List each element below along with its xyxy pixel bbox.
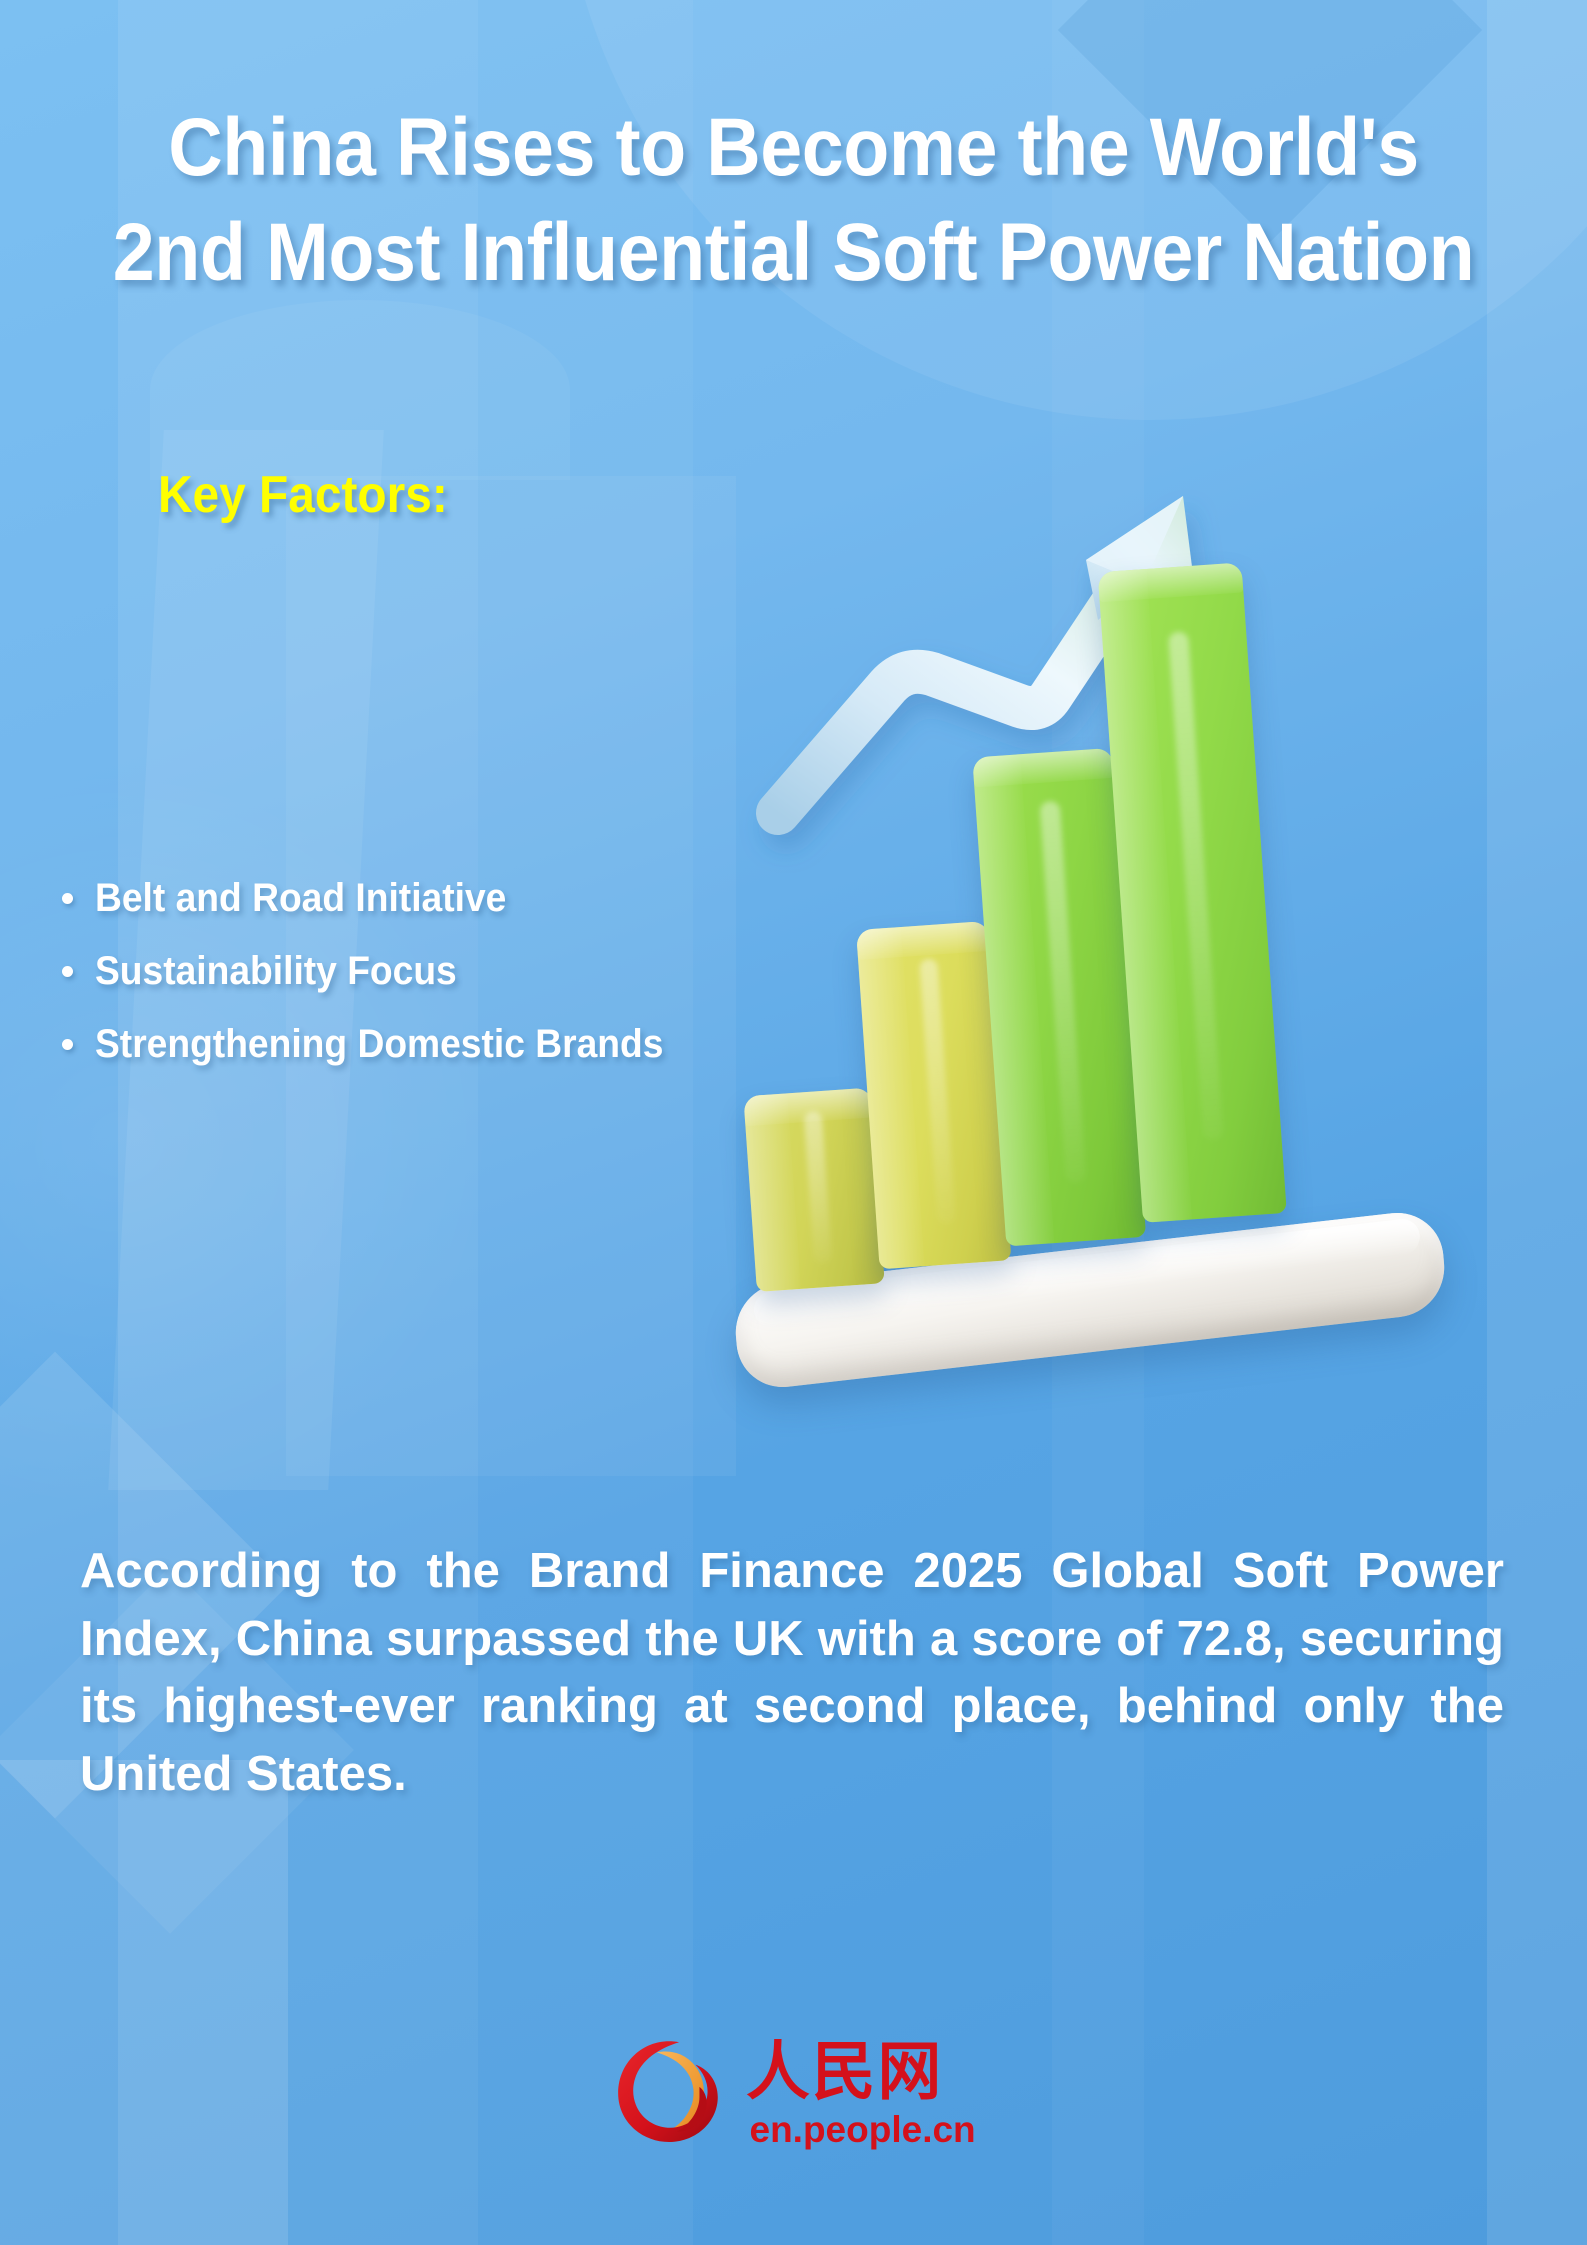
- site-logo[interactable]: 人民网 en.people.cn: [0, 2030, 1587, 2152]
- logo-url-text: en.people.cn: [750, 2111, 976, 2148]
- growth-bar-chart-illustration: [700, 520, 1500, 1380]
- page-title-line-2: 2nd Most Influential Soft Power Nation: [95, 201, 1492, 306]
- page-title-line-1: China Rises to Become the World's: [95, 96, 1492, 201]
- bar-top-face: [972, 748, 1114, 788]
- bullet-icon: [62, 966, 73, 977]
- bullet-icon: [62, 1039, 73, 1050]
- key-factors-heading: Key Factors:: [158, 465, 448, 525]
- background-band-left: [118, 0, 478, 2245]
- body-paragraph: According to the Brand Finance 2025 Glob…: [80, 1538, 1504, 1808]
- bar-top-face: [1098, 562, 1244, 602]
- page-title: China Rises to Become the World's 2nd Mo…: [63, 96, 1523, 306]
- background-curve-small: [150, 300, 570, 480]
- bar-gloss-highlight: [919, 959, 956, 1225]
- people-daily-globe-icon: [610, 2030, 732, 2152]
- bar-gloss-highlight: [803, 1111, 832, 1265]
- key-factor-label: Strengthening Domestic Brands: [95, 1022, 663, 1067]
- chart-bars-group: [647, 494, 1505, 1408]
- background-left-strip: [0, 1760, 288, 2245]
- background-band-right: [1487, 0, 1587, 2245]
- logo-chinese-characters: 人民网: [746, 2035, 943, 2109]
- chart-bar-1: [743, 1087, 884, 1291]
- bar-top-face: [856, 921, 990, 960]
- background-band-mid: [478, 0, 693, 2245]
- bar-gloss-highlight: [1040, 801, 1086, 1184]
- key-factor-label: Sustainability Focus: [95, 949, 457, 994]
- logo-text-group: 人民网 en.people.cn: [746, 2035, 978, 2148]
- bullet-icon: [62, 893, 73, 904]
- renminwang-chinese-wordmark: 人民网: [746, 2035, 978, 2109]
- key-factor-label: Belt and Road Initiative: [95, 876, 506, 921]
- infographic-poster: China Rises to Become the World's 2nd Mo…: [0, 0, 1587, 2245]
